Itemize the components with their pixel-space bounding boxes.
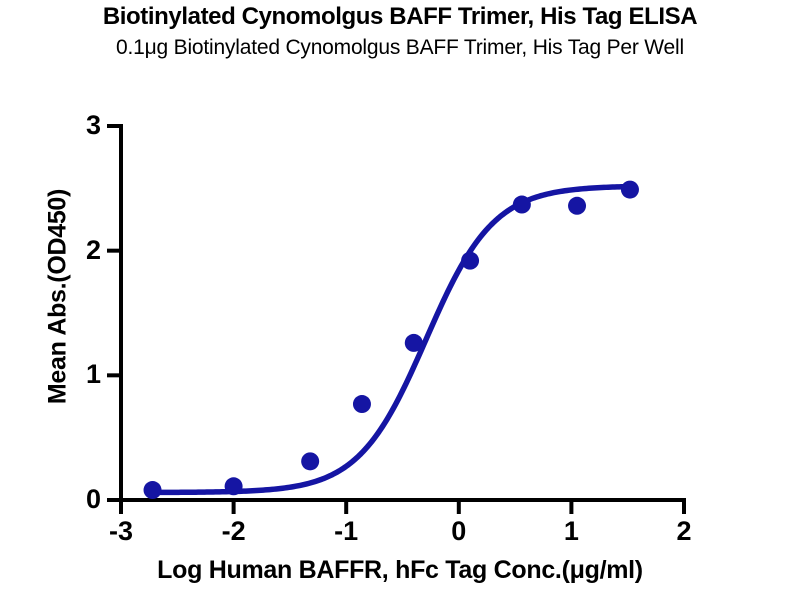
x-tick-label: -2 [204,516,264,546]
x-tick-label: -1 [316,516,376,546]
data-point [225,477,243,495]
x-tick-label: 2 [654,516,714,546]
data-point [513,196,531,214]
x-axis-ticks [121,500,684,514]
data-point [405,334,423,352]
data-point [461,252,479,270]
y-axis-ticks [107,126,121,500]
data-point [568,197,586,215]
elisa-chart-figure: Biotinylated Cynomolgus BAFF Trimer, His… [0,0,800,600]
data-points [144,181,639,499]
x-tick-label: 0 [429,516,489,546]
y-tick-label: 3 [41,110,101,140]
data-point [621,181,639,199]
x-tick-label: 1 [541,516,601,546]
data-point [144,481,162,499]
fit-curve [153,187,630,493]
data-point [353,395,371,413]
x-tick-label: -3 [91,516,151,546]
x-axis-title: Log Human BAFFR, hFc Tag Conc.(μg/ml) [0,556,800,585]
plot-canvas [0,0,800,600]
y-axis-title: Mean Abs.(OD450) [44,147,73,447]
data-group [144,181,639,499]
axes-group [107,126,684,514]
data-point [301,452,319,470]
y-tick-label: 0 [41,484,101,514]
